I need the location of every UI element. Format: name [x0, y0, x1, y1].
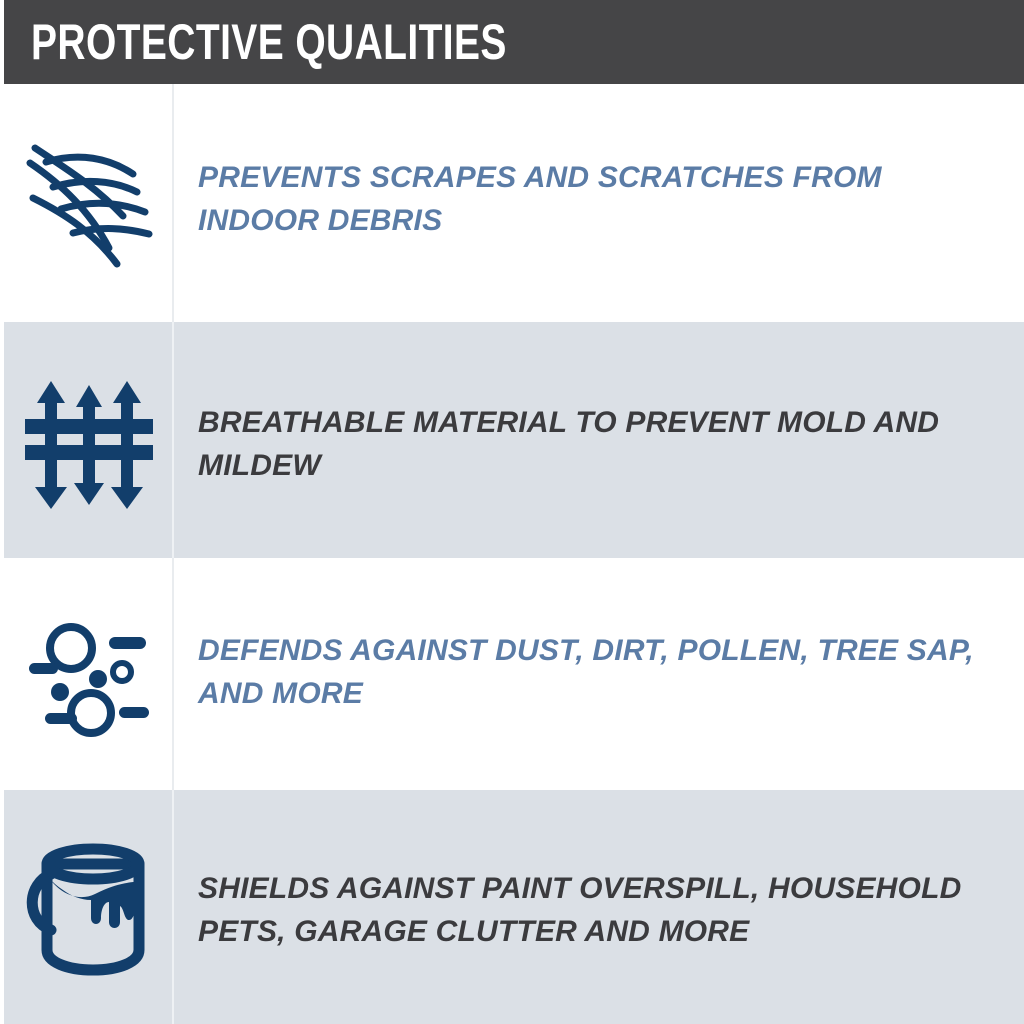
text-cell: SHIELDS AGAINST PAINT OVERSPILL, HOUSEHO…: [174, 790, 1024, 1024]
feature-text: DEFENDS AGAINST DUST, DIRT, POLLEN, TREE…: [198, 630, 1002, 715]
icon-cell: [4, 558, 174, 790]
breathable-airflow-arrows-icon: [21, 369, 157, 511]
mesh-weave-icon: [21, 132, 157, 274]
icon-cell: [4, 790, 174, 1024]
feature-text: SHIELDS AGAINST PAINT OVERSPILL, HOUSEHO…: [198, 868, 1002, 953]
feature-text: PREVENTS SCRAPES AND SCRATCHES FROM INDO…: [198, 157, 1002, 242]
list-item: DEFENDS AGAINST DUST, DIRT, POLLEN, TREE…: [4, 558, 1024, 790]
text-cell: BREATHABLE MATERIAL TO PREVENT MOLD AND …: [174, 322, 1024, 558]
icon-cell: [4, 84, 174, 322]
protective-qualities-infographic: PROTECTIVE QUALITIES: [0, 0, 1024, 1024]
header-bar: PROTECTIVE QUALITIES: [4, 0, 1024, 84]
paint-can-drip-icon: [21, 836, 157, 978]
text-cell: PREVENTS SCRAPES AND SCRATCHES FROM INDO…: [174, 84, 1024, 322]
list-item: BREATHABLE MATERIAL TO PREVENT MOLD AND …: [4, 322, 1024, 558]
list-item: PREVENTS SCRAPES AND SCRATCHES FROM INDO…: [4, 84, 1024, 322]
list-item: SHIELDS AGAINST PAINT OVERSPILL, HOUSEHO…: [4, 790, 1024, 1024]
feature-list: PREVENTS SCRAPES AND SCRATCHES FROM INDO…: [4, 84, 1024, 1024]
text-cell: DEFENDS AGAINST DUST, DIRT, POLLEN, TREE…: [174, 558, 1024, 790]
dust-particles-icon: [21, 603, 157, 745]
feature-text: BREATHABLE MATERIAL TO PREVENT MOLD AND …: [198, 402, 1002, 487]
icon-cell: [4, 322, 174, 558]
page-title: PROTECTIVE QUALITIES: [31, 17, 507, 67]
